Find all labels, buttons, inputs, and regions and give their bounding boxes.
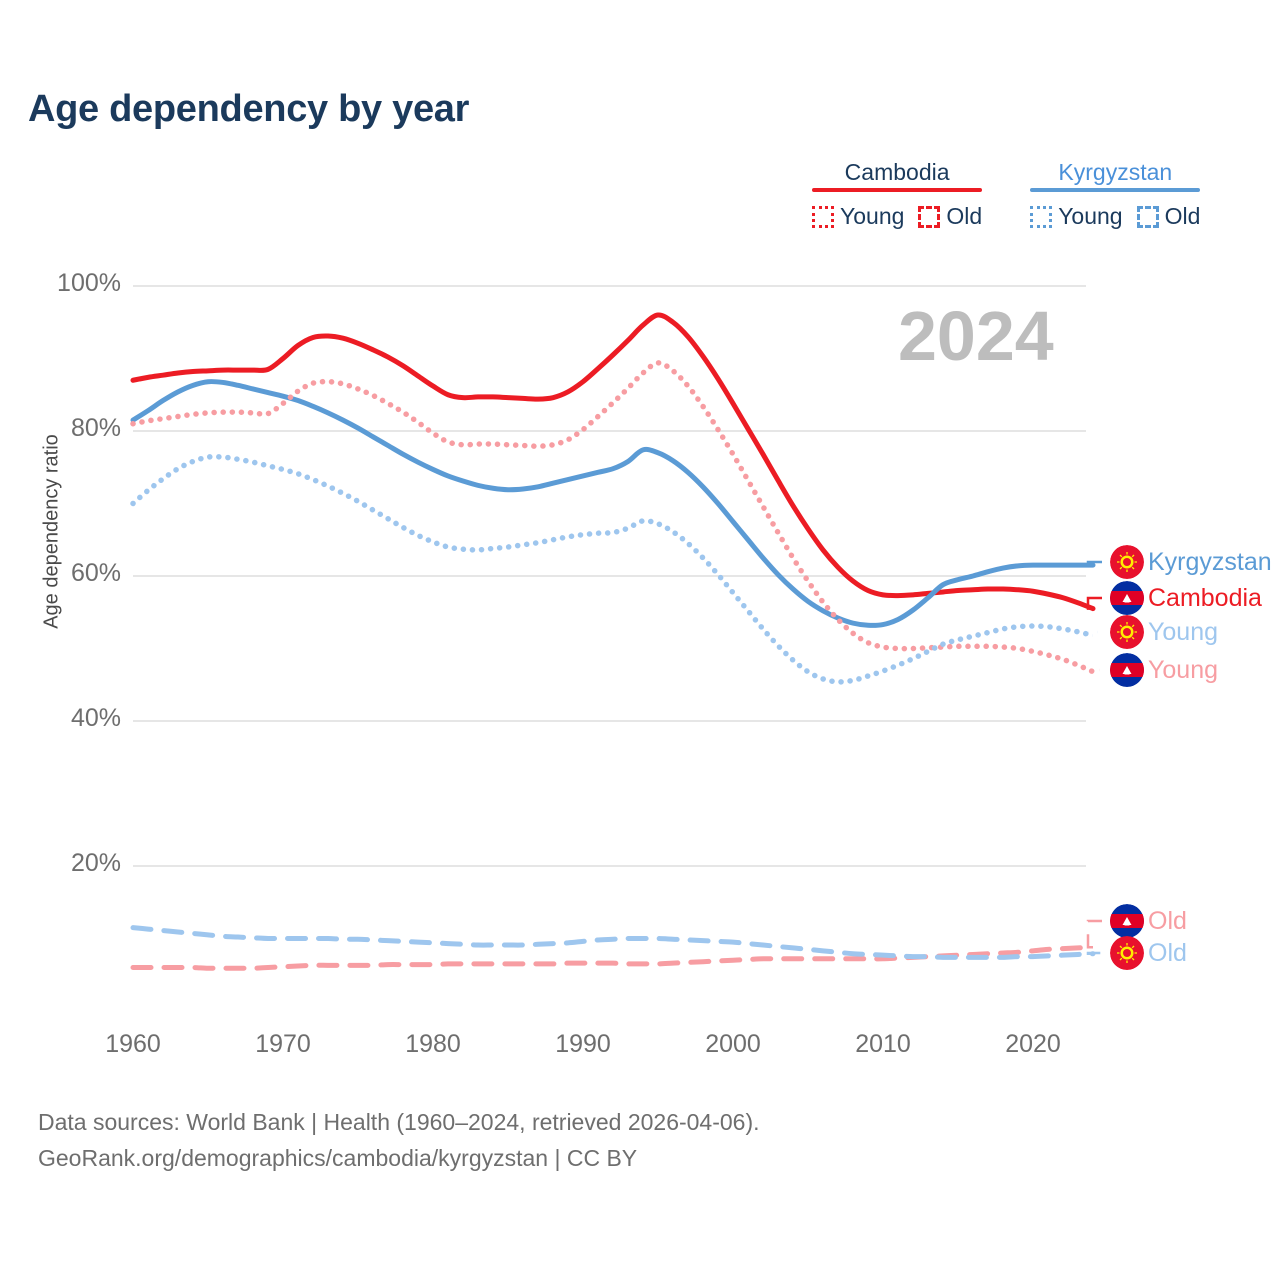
x-axis-tick: 1990 [543, 1030, 623, 1059]
series-end-label-text: Cambodia [1148, 584, 1262, 613]
footer-line-1: Data sources: World Bank | Health (1960–… [38, 1105, 760, 1141]
plot-area [0, 0, 1280, 1060]
series-line [133, 315, 1093, 609]
series-end-label[interactable]: Old [1110, 936, 1187, 970]
y-axis-tick: 40% [0, 704, 121, 733]
chart-root: Age dependency by year Cambodia Young Ol… [0, 0, 1280, 1280]
cambodia-flag-icon [1110, 904, 1144, 938]
y-axis-tick: 20% [0, 849, 121, 878]
x-axis-tick: 2020 [993, 1030, 1073, 1059]
series-end-label-text: Young [1148, 656, 1218, 685]
x-axis-tick: 1960 [93, 1030, 173, 1059]
series-end-label-text: Old [1148, 939, 1187, 968]
end-label-leader [1088, 921, 1102, 947]
end-label-leader [1088, 632, 1102, 636]
series-end-label[interactable]: Young [1110, 653, 1218, 687]
cambodia-flag-icon [1110, 653, 1144, 687]
x-axis-tick: 1970 [243, 1030, 323, 1059]
series-end-label[interactable]: Kyrgyzstan [1110, 545, 1272, 579]
series-end-label[interactable]: Cambodia [1110, 581, 1262, 615]
cambodia-flag-icon [1110, 581, 1144, 615]
series-end-label-text: Kyrgyzstan [1148, 548, 1272, 577]
kyrgyzstan-flag-icon [1110, 615, 1144, 649]
series-line [133, 928, 1093, 958]
x-axis-tick: 2000 [693, 1030, 773, 1059]
y-axis-tick: 80% [0, 414, 121, 443]
series-end-label-text: Young [1148, 618, 1218, 647]
end-label-leader [1088, 953, 1102, 954]
footer-line-2: GeoRank.org/demographics/cambodia/kyrgyz… [38, 1141, 760, 1177]
series-end-label[interactable]: Young [1110, 615, 1218, 649]
x-axis-tick: 2010 [843, 1030, 923, 1059]
x-axis-tick: 1980 [393, 1030, 473, 1059]
y-axis-tick: 60% [0, 559, 121, 588]
series-end-label-text: Old [1148, 907, 1187, 936]
kyrgyzstan-flag-icon [1110, 545, 1144, 579]
kyrgyzstan-flag-icon [1110, 936, 1144, 970]
series-end-label[interactable]: Old [1110, 904, 1187, 938]
y-axis-tick: 100% [0, 269, 121, 298]
footer-credits: Data sources: World Bank | Health (1960–… [38, 1105, 760, 1176]
series-line [133, 363, 1093, 672]
